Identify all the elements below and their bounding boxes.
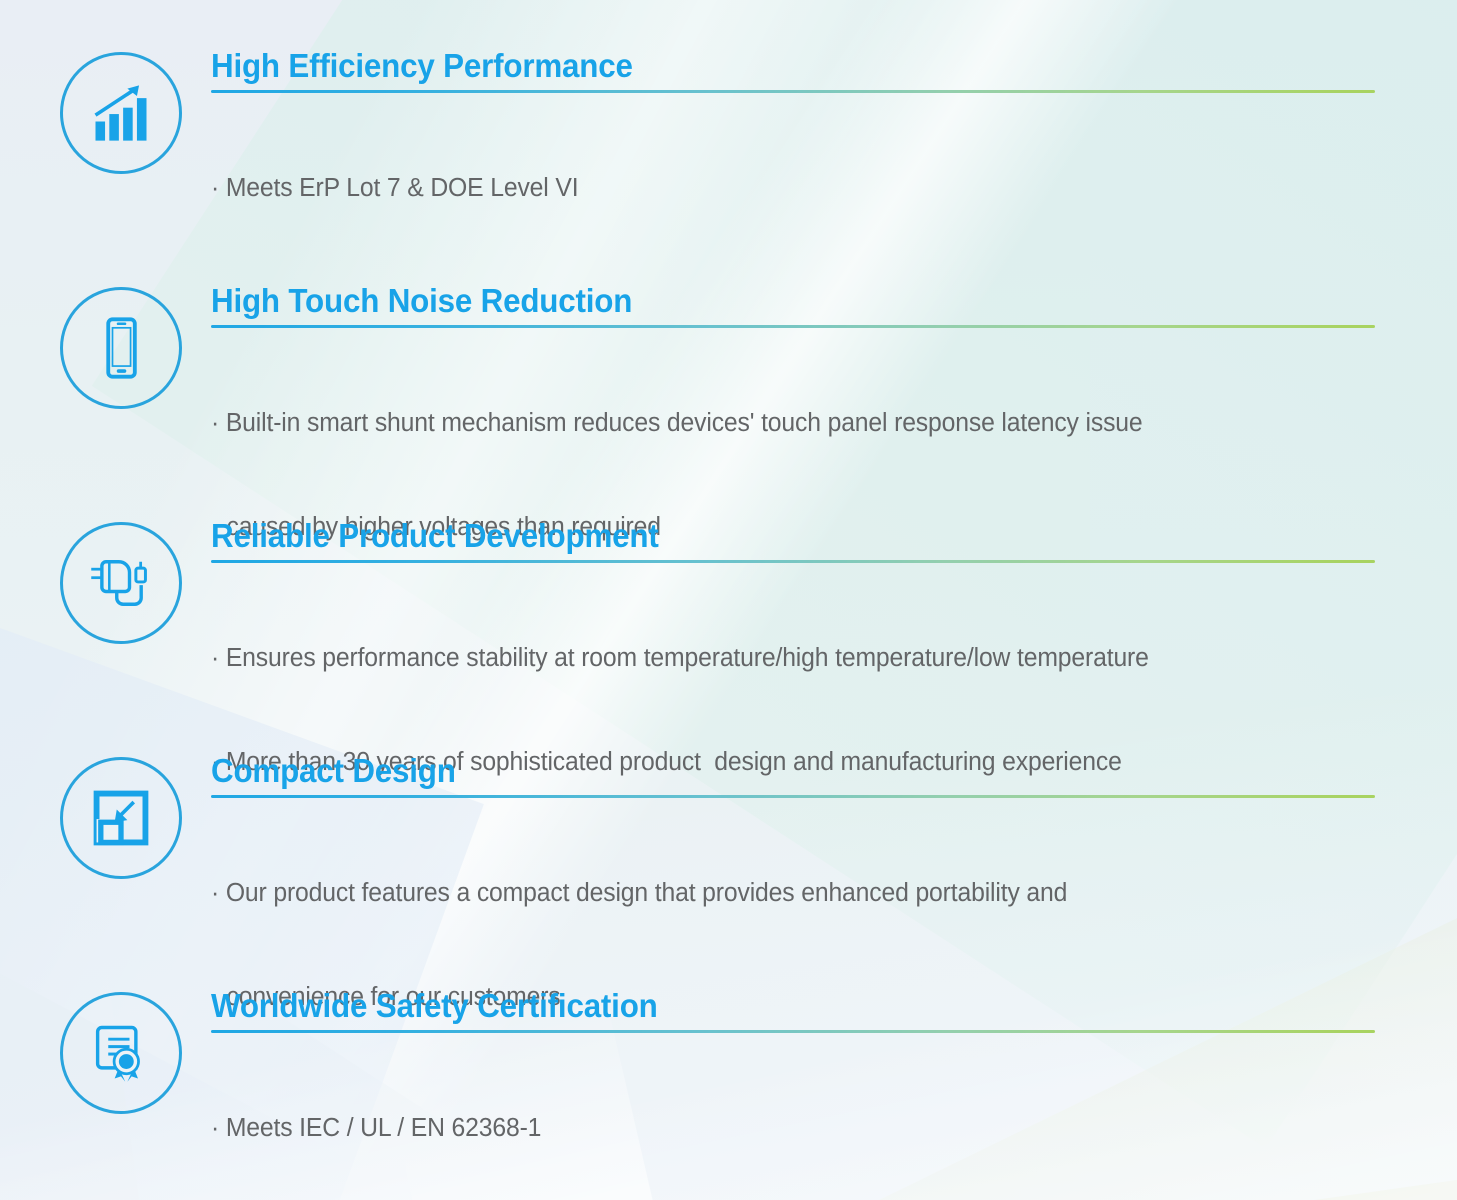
feature-title: High Touch Noise Reduction	[211, 283, 1395, 320]
feature-title: Worldwide Safety Certification	[211, 988, 1395, 1025]
feature-icon-wrapper	[60, 757, 182, 879]
feature-divider	[211, 90, 1375, 93]
feature-divider	[211, 795, 1375, 798]
feature-icon-wrapper	[60, 522, 182, 644]
bullet-item: · Built-in smart shunt mechanism reduces…	[211, 406, 1420, 441]
feature-highlights-panel: High Efficiency Performance · Meets ErP …	[0, 0, 1457, 1200]
feature-icon-wrapper	[60, 992, 182, 1114]
feature-title: High Efficiency Performance	[211, 48, 1395, 85]
feature-bullets: · Meets ErP Lot 7 & DOE Level VI	[211, 102, 1420, 275]
feature-icon-wrapper	[60, 287, 182, 409]
feature-content: Worldwide Safety Certification · Meets I…	[211, 988, 1457, 1200]
bar-chart-growth-icon	[87, 79, 155, 147]
compact-resize-icon	[87, 784, 155, 852]
smartphone-icon	[87, 314, 155, 382]
feature-icon-wrapper	[60, 52, 182, 174]
feature-divider	[211, 325, 1375, 328]
power-adapter-icon	[87, 549, 155, 617]
bullet-item: · Meets IEC / UL / EN 62368-1	[211, 1111, 1420, 1146]
feature-content: High Efficiency Performance · Meets ErP …	[211, 48, 1457, 275]
feature-divider	[211, 560, 1375, 563]
feature-divider	[211, 1030, 1375, 1033]
feature-title: Compact Design	[211, 753, 1395, 790]
bullet-item: · Ensures performance stability at room …	[211, 641, 1420, 676]
feature-title: Reliable Product Development	[211, 518, 1395, 555]
bullet-item: · Meets ErP Lot 7 & DOE Level VI	[211, 171, 1420, 206]
certificate-award-icon	[87, 1019, 155, 1087]
bullet-item: · Our product features a compact design …	[211, 876, 1420, 911]
feature-bullets: · Meets IEC / UL / EN 62368-1	[211, 1042, 1420, 1200]
